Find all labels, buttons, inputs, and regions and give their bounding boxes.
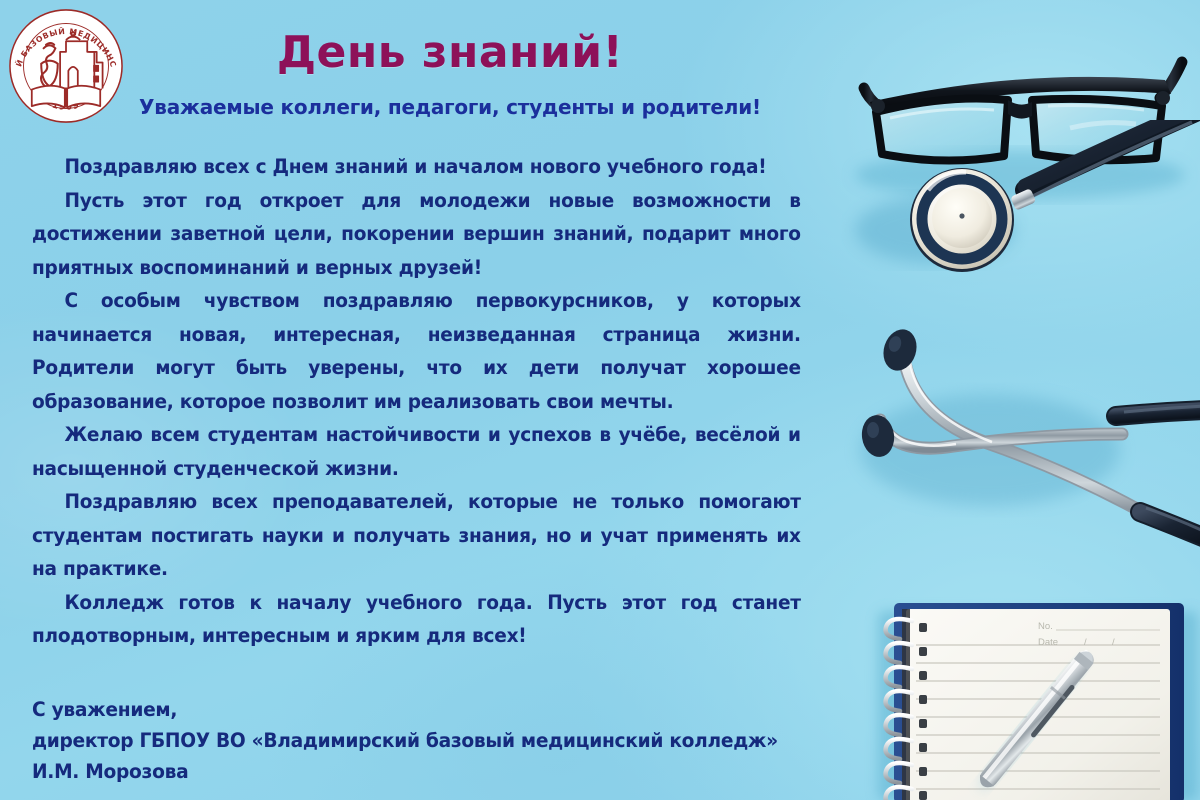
paragraph: Колледж готов к началу учебного года. Пу…	[32, 586, 801, 653]
notebook-photo: No. Date / /	[860, 585, 1200, 800]
signature-line-3: И.М. Морозова	[32, 756, 819, 787]
college-logo: ВЛАДИМИРСКИЙ БАЗОВЫЙ МЕДИЦИНСКИЙ КОЛЛЕДЖ…	[7, 7, 125, 125]
notebook-date-sep-2: /	[1112, 637, 1115, 648]
open-book-icon	[32, 86, 100, 108]
notebook-field-date: Date	[1038, 637, 1058, 648]
poster-canvas: ВЛАДИМИРСКИЙ БАЗОВЫЙ МЕДИЦИНСКИЙ КОЛЛЕДЖ…	[0, 0, 1200, 800]
paragraph: С особым чувством поздравляю первокурсни…	[32, 284, 801, 418]
signature-block: С уважением, директор ГБПОУ ВО «Владимир…	[32, 694, 819, 787]
stethoscope-photo	[840, 120, 1200, 600]
greeting-body: Поздравляю всех с Днем знаний и началом …	[32, 150, 801, 653]
paragraph: Пусть этот год откроет для молодежи новы…	[32, 184, 801, 285]
page-title: День знаний!	[140, 27, 760, 78]
page-subtitle: Уважаемые коллеги, педагоги, студенты и …	[110, 95, 790, 119]
paragraph: Поздравляю всех преподавателей, которые …	[32, 485, 801, 586]
notebook-field-no: No.	[1038, 621, 1053, 632]
signature-line-1: С уважением,	[32, 694, 819, 725]
signature-line-2: директор ГБПОУ ВО «Владимирский базовый …	[32, 725, 819, 756]
notebook-date-sep-1: /	[1084, 637, 1087, 648]
paragraph: Поздравляю всех с Днем знаний и началом …	[32, 150, 801, 184]
paragraph: Желаю всем студентам настойчивости и усп…	[32, 418, 801, 485]
